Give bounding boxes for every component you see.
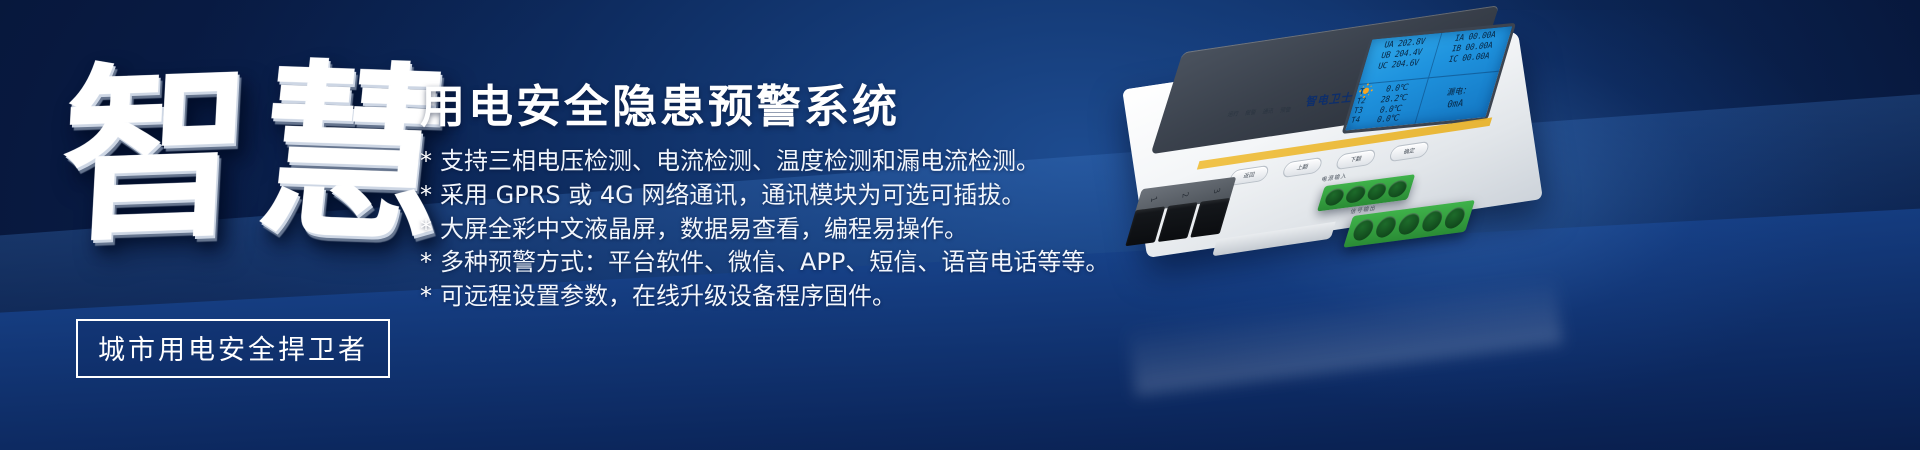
tagline-badge-text: 城市用电安全捍卫者 — [98, 328, 368, 367]
device-button-down[interactable]: 下翻 — [1335, 148, 1378, 170]
terminal-screw — [1374, 215, 1399, 239]
lcd-current-panel: IA 00.00A IB 00.00A IC 00.00A — [1429, 26, 1513, 78]
page-title: 用电安全隐患预警系统 — [420, 82, 1120, 132]
list-item: * 大屏全彩中文液晶屏，数据易查看，编程易操作。 — [420, 214, 1120, 246]
device-button-ok[interactable]: 确定 — [1388, 140, 1431, 162]
terminal-screw — [1386, 179, 1409, 198]
bullet-marker: * — [420, 146, 432, 178]
list-item: * 多种预警方式：平台软件、微信、APP、短信、语音电话等等。 — [420, 247, 1120, 279]
bullet-marker: * — [420, 180, 432, 212]
device-button-up[interactable]: 上翻 — [1281, 156, 1324, 178]
copy-block: 用电安全隐患预警系统 * 支持三相电压检测、电流检测、温度检测和漏电流检测。 *… — [420, 82, 1120, 315]
list-item-label: 采用 GPRS 或 4G 网络通讯，通讯模块为可选可插拔。 — [440, 180, 1025, 212]
list-item: * 支持三相电压检测、电流检测、温度检测和漏电流检测。 — [420, 146, 1120, 178]
calligraphy-logotype: 智 慧 — [62, 18, 422, 293]
indicator-label-comm: 通讯 — [1262, 106, 1275, 115]
calligraphy-char-zhi: 智 — [57, 63, 253, 248]
lcd-leakage-value: 0mA — [1446, 99, 1465, 111]
bullet-marker: * — [420, 247, 432, 279]
list-item-label: 大屏全彩中文液晶屏，数据易查看，编程易操作。 — [440, 214, 968, 246]
indicator-label-alarm: 报警 — [1244, 108, 1257, 117]
list-item: * 可远程设置参数，在线升级设备程序固件。 — [420, 281, 1120, 313]
feature-list: * 支持三相电压检测、电流检测、温度检测和漏电流检测。 * 采用 GPRS 或 … — [420, 146, 1120, 312]
terminal-screw — [1323, 187, 1346, 206]
connector-number-2: 2 — [1181, 190, 1191, 198]
connector-number-1: 1 — [1149, 194, 1159, 202]
terminal-screw — [1351, 218, 1376, 242]
bullet-marker: * — [420, 281, 432, 313]
list-item: * 采用 GPRS 或 4G 网络通讯，通讯模块为可选可插拔。 — [420, 180, 1120, 212]
list-item-label: 支持三相电压检测、电流检测、温度检测和漏电流检测。 — [440, 146, 1040, 178]
list-item-label: 可远程设置参数，在线升级设备程序固件。 — [440, 281, 896, 313]
terminal-screw — [1365, 182, 1388, 201]
product-device-image: UA 202.8V UB 204.4V UC 204.6V IA 00.00A … — [1089, 0, 1597, 345]
lcd-leakage-label: 漏电： — [1446, 84, 1473, 98]
lcd-leakage-panel: 漏电： 0mA — [1415, 72, 1499, 124]
terminal-screw — [1344, 185, 1367, 204]
terminal-screw — [1419, 209, 1444, 233]
bullet-marker: * — [420, 214, 432, 246]
lcd-temp-label-4: T4 — [1350, 115, 1362, 126]
list-item-label: 多种预警方式：平台软件、微信、APP、短信、语音电话等等。 — [440, 247, 1109, 279]
tagline-badge: 城市用电安全捍卫者 — [76, 319, 390, 378]
terminal-screw — [1396, 212, 1421, 236]
indicator-label-run: 运行 — [1227, 109, 1240, 118]
promo-banner: 智 慧 城市用电安全捍卫者 用电安全隐患预警系统 * 支持三相电压检测、电流检测… — [0, 0, 1920, 450]
terminal-screw — [1442, 206, 1467, 230]
connector-number-3: 3 — [1212, 186, 1222, 194]
